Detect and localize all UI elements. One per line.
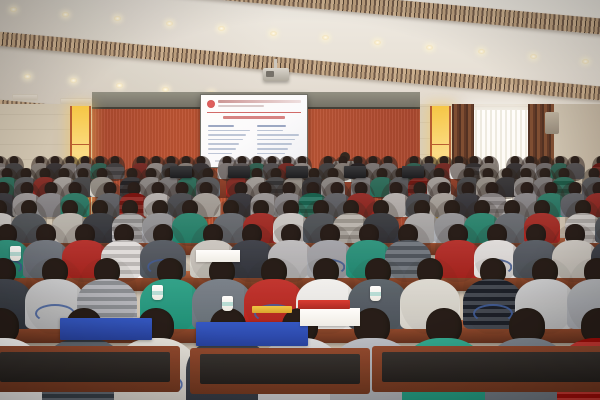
yellow-pad-icon xyxy=(252,306,292,313)
folder-icon xyxy=(196,322,308,346)
downlight-icon xyxy=(582,59,589,64)
conference-hall-photo xyxy=(0,0,600,400)
slide-title-text xyxy=(223,116,285,119)
audience xyxy=(0,150,600,400)
slide-text-line xyxy=(208,143,239,145)
bench-cushion xyxy=(382,352,600,382)
slide-divider xyxy=(207,112,301,113)
downlight-icon xyxy=(270,31,277,36)
downlight-icon xyxy=(374,40,381,45)
cup-icon xyxy=(222,296,233,311)
downlight-icon xyxy=(10,7,17,12)
slide-text-line xyxy=(208,125,234,127)
slide-text-line xyxy=(257,134,299,136)
cup-icon xyxy=(10,246,21,261)
red-book-icon xyxy=(298,300,350,309)
downlight-icon xyxy=(162,87,169,92)
slide-text-line xyxy=(208,130,250,132)
slide-text-line xyxy=(257,139,295,141)
slide-text-line xyxy=(257,125,286,127)
loudspeaker-icon xyxy=(545,112,559,134)
monitor-icon xyxy=(344,166,366,178)
downlight-icon xyxy=(62,12,69,17)
projector-icon xyxy=(263,68,289,81)
bench-cushion xyxy=(200,354,360,384)
monitor-icon xyxy=(228,166,250,178)
slide-text-line xyxy=(257,143,292,145)
slide-text-line xyxy=(208,139,243,141)
slide-subheader-text xyxy=(218,105,264,107)
folder-icon xyxy=(60,318,152,340)
paper-icon xyxy=(300,308,360,326)
downlight-icon xyxy=(116,83,123,88)
slide-text-line xyxy=(208,134,246,136)
ceiling-vent xyxy=(12,94,38,101)
monitor-icon xyxy=(286,166,308,178)
logo-icon xyxy=(207,100,215,108)
monitor-icon xyxy=(170,166,192,178)
slide-text-line xyxy=(257,130,283,132)
cup-icon xyxy=(152,285,163,300)
slide-header-text xyxy=(218,100,301,103)
paper-icon xyxy=(196,250,240,262)
downlight-icon xyxy=(426,45,433,50)
cup-icon xyxy=(370,286,381,301)
downlight-icon xyxy=(218,26,225,31)
bench-cushion xyxy=(0,352,170,382)
monitor-icon xyxy=(402,166,424,178)
